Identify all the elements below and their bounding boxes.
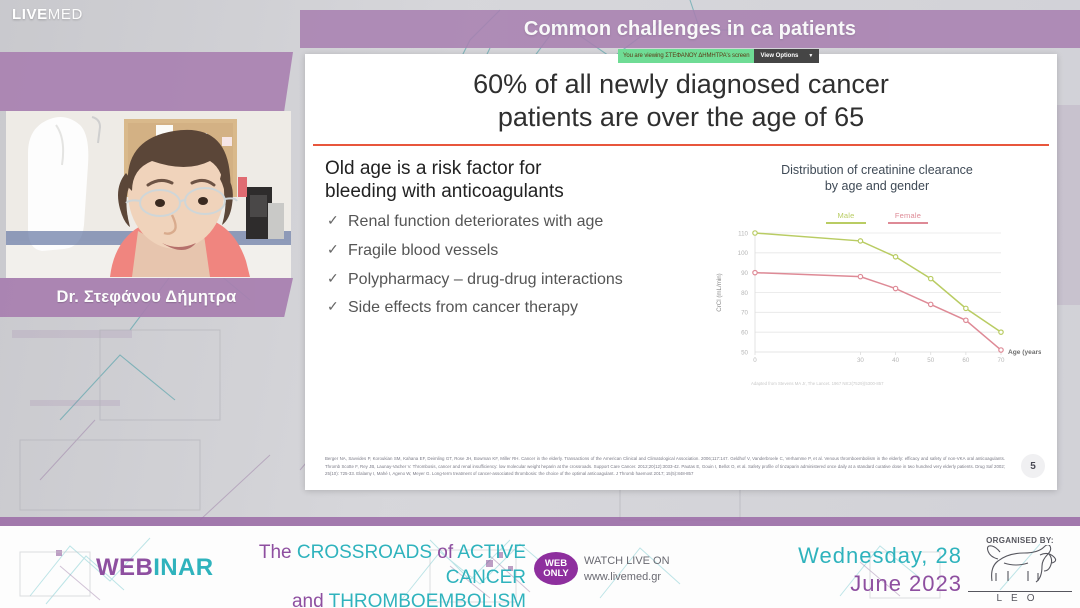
list-item-label: Side effects from cancer therapy [348,299,578,316]
legend-swatch-male [826,222,866,224]
presenter-name-plate: Dr. Στεφάνου Δήμητρα [0,278,293,317]
logo-bold-text: LIVE [12,6,48,23]
lead-line-2: bleeding with anticoagulants [325,181,705,204]
list-item: ✓ Fragile blood vessels [325,241,705,261]
risk-factor-list: ✓ Renal function deteriorates with age ✓… [325,212,705,317]
presenter-video-tile[interactable]: Dr. Στεφάνου Δήμητρα [0,52,293,317]
headline-the: The [259,542,297,563]
webinar-word-part-1: WEB [96,554,153,581]
date-line-1: Wednesday, 28 [798,542,962,570]
list-item: ✓ Polypharmacy – drug-drug interactions [325,270,705,290]
svg-text:70: 70 [741,310,748,317]
svg-text:80: 80 [741,290,748,297]
creatinine-clearance-chart: 110100908070605003040506070CrCl (mL/min)… [711,227,1043,372]
web-only-line-2: ONLY [543,569,569,579]
svg-text:50: 50 [927,357,934,364]
slide-title-line-2: patients are over the age of 65 [355,101,1007,134]
screen-share-notice: You are viewing ΣΤΕΦΑΝΟΥ ΔΗΜΗΤΡΑ's scree… [618,49,819,63]
svg-text:Age (years): Age (years) [1008,349,1041,356]
headline-line-1: The CROSSROADS of ACTIVE CANCER [196,541,526,590]
presenter-name: Dr. Στεφάνου Δήμητρα [56,288,236,307]
organised-by-label: ORGANISED BY: [968,536,1072,545]
chevron-down-icon: ▼ [808,53,813,59]
lead-line-1: Old age is a risk factor for [325,158,705,181]
list-item-label: Renal function deteriorates with age [348,213,603,230]
svg-text:50: 50 [741,350,748,357]
session-title: Common challenges in ca patients [524,18,856,41]
logo-light-text: MED [48,6,83,23]
shared-slide[interactable]: 60% of all newly diagnosed cancer patien… [305,54,1057,490]
svg-text:CrCl (mL/min): CrCl (mL/min) [716,274,723,313]
band-purple-strip [0,517,1080,526]
legend-item-male: Male [826,211,866,224]
svg-text:0: 0 [753,357,757,364]
headline-thromboembolism: THROMBOEMBOLISM [329,591,526,608]
chart-title: Distribution of creatinine clearance by … [711,162,1043,195]
video-top-accent [0,52,293,111]
organiser-block: ORGANISED BY: LEO [968,536,1072,604]
list-item: ✓ Side effects from cancer therapy [325,298,705,318]
webinar-screen: LIVEMED [0,0,1080,608]
check-icon: ✓ [327,298,339,315]
watch-live-info: WATCH LIVE ON www.livemed.gr [584,554,670,586]
web-only-badge: WEB ONLY [534,552,578,585]
svg-text:60: 60 [962,357,969,364]
svg-text:70: 70 [998,357,1005,364]
legend-label-female: Female [888,211,928,220]
svg-text:40: 40 [892,357,899,364]
slide-body: Old age is a risk factor for bleeding wi… [305,146,1057,387]
webinar-date: Wednesday, 28 June 2023 [798,542,962,598]
date-line-2: June 2023 [798,570,962,598]
slide-lead-statement: Old age is a risk factor for bleeding wi… [325,158,705,204]
chart-legend: Male Female [711,211,1043,224]
webinar-headline: The CROSSROADS of ACTIVE CANCER and THRO… [196,541,526,608]
webinar-footer-banner: WEBINAR The CROSSROADS of ACTIVE CANCER … [0,526,1080,608]
slide-page-number: 5 [1021,454,1045,478]
chart-title-line-1: Distribution of creatinine clearance [711,162,1043,178]
headline-crossroads: CROSSROADS [297,542,432,563]
view-options-button[interactable]: View Options ▼ [754,49,819,63]
legend-swatch-female [888,222,928,224]
slide-left-column: Old age is a risk factor for bleeding wi… [319,158,705,387]
svg-text:60: 60 [741,330,748,337]
headline-active-cancer: ACTIVE CANCER [446,542,526,588]
session-title-bar: Common challenges in ca patients [300,10,1080,48]
list-item-label: Polypharmacy – drug-drug interactions [348,271,623,288]
leo-lion-logo [974,545,1066,589]
slide-references: Berger NA, Savvides P, Koroukian SM, Kah… [325,455,1005,478]
check-icon: ✓ [327,270,339,287]
presenter-webcam-feed [6,111,291,278]
check-icon: ✓ [327,241,339,258]
leo-letters: LEO [968,591,1072,604]
check-icon: ✓ [327,212,339,229]
watch-live-url[interactable]: www.livemed.gr [584,570,670,586]
headline-and: and [292,591,329,608]
headline-of: of [432,542,457,563]
legend-label-male: Male [826,211,866,220]
list-item: ✓ Renal function deteriorates with age [325,212,705,232]
screen-share-message: You are viewing ΣΤΕΦΑΝΟΥ ΔΗΜΗΤΡΑ's scree… [618,49,754,63]
svg-text:100: 100 [738,251,749,258]
slide-right-column: Distribution of creatinine clearance by … [705,158,1043,387]
svg-text:30: 30 [857,357,864,364]
chart-source-note: Adapted from Stevens MA Jr, The Lancet. … [711,381,1043,386]
list-item-label: Fragile blood vessels [348,242,498,259]
svg-text:110: 110 [738,231,748,238]
livemed-logo: LIVEMED [12,6,83,23]
svg-text:90: 90 [741,270,748,277]
watch-live-label: WATCH LIVE ON [584,554,670,570]
view-options-label: View Options [760,53,798,59]
chart-title-line-2: by age and gender [711,178,1043,194]
legend-item-female: Female [888,211,928,224]
slide-title-line-1: 60% of all newly diagnosed cancer [355,68,1007,101]
headline-line-2: and THROMBOEMBOLISM [196,590,526,608]
slide-title: 60% of all newly diagnosed cancer patien… [305,54,1057,134]
